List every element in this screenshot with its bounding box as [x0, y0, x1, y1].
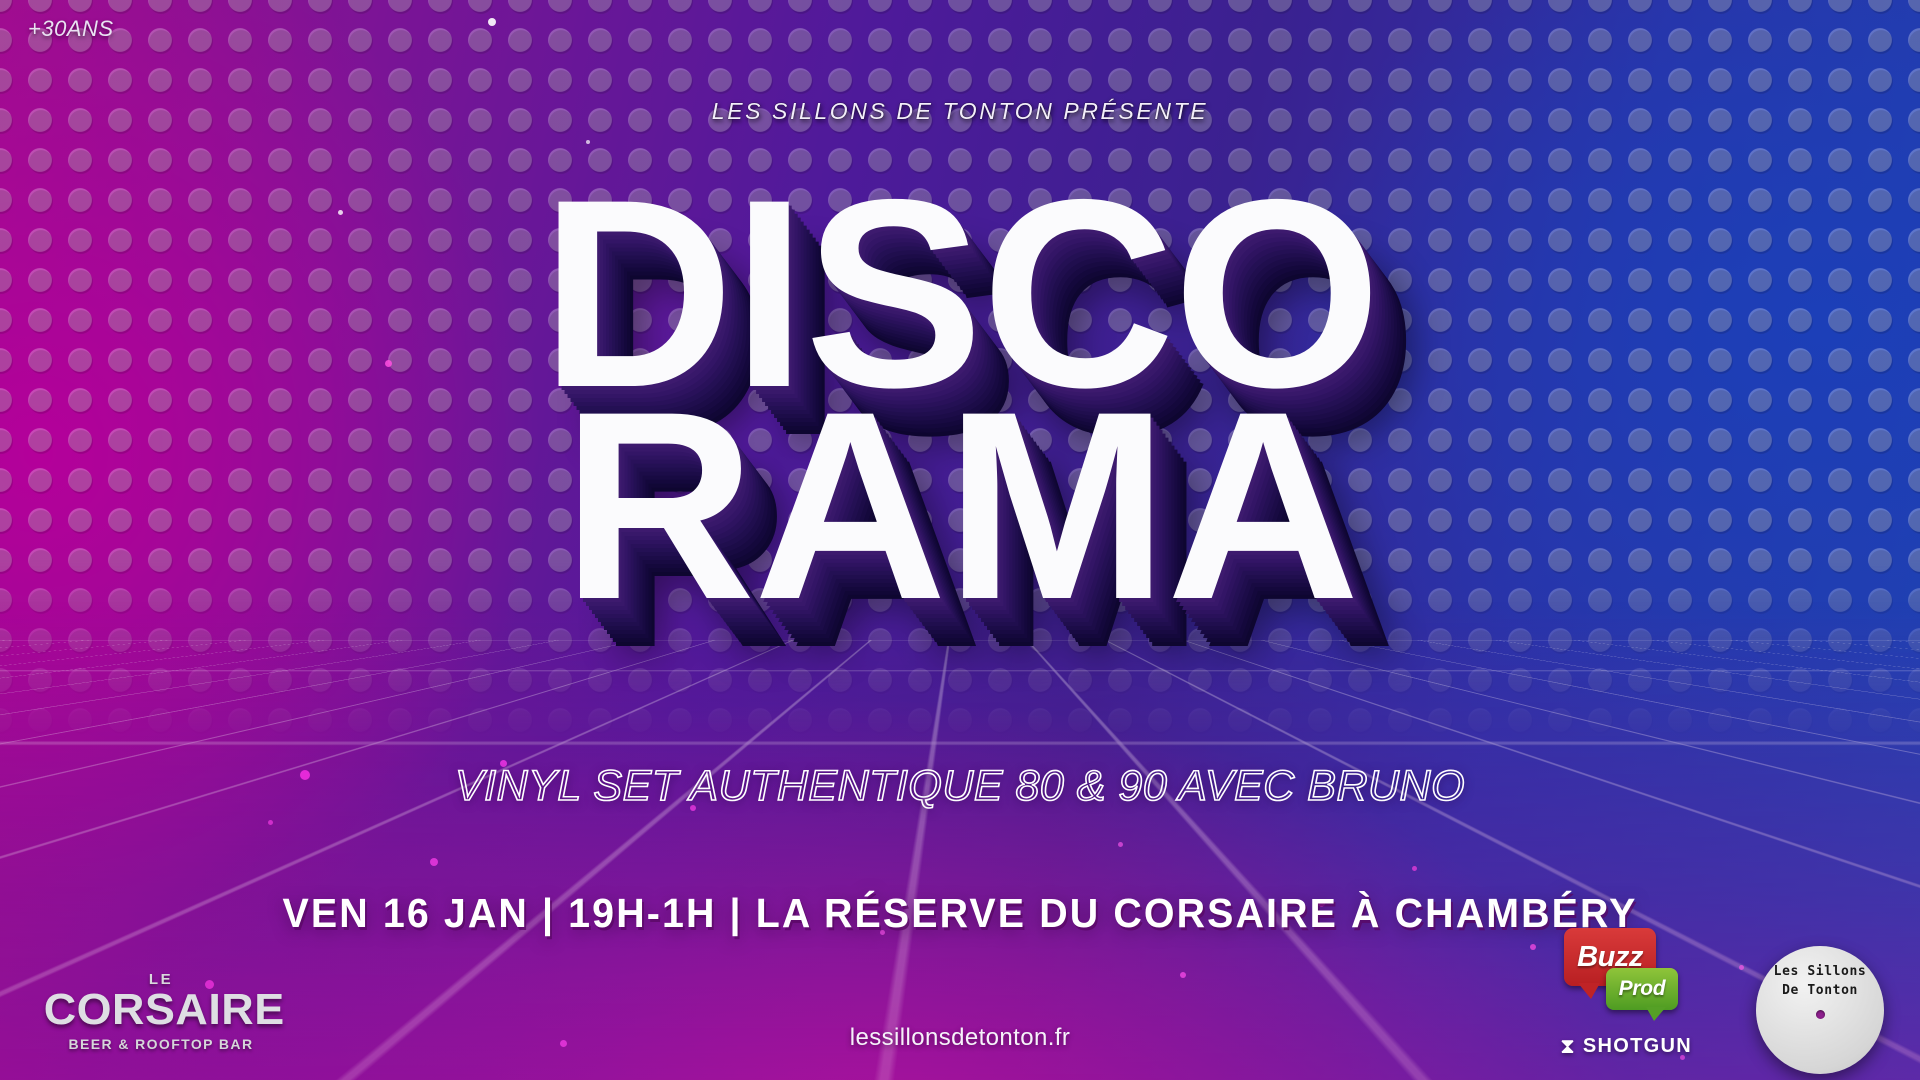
title-line-2: RAMA: [0, 390, 1920, 620]
venue-logo-tagline: BEER & ROOFTOP BAR: [46, 1036, 276, 1052]
age-restriction-label: +30ANS: [28, 16, 114, 42]
shotgun-label: SHOTGUN: [1583, 1035, 1692, 1058]
vinyl-record-logo[interactable]: Les Sillons De Tonton: [1756, 946, 1884, 1074]
text-layer: +30ANS LES SILLONS DE TONTON PRÉSENTE DI…: [0, 0, 1920, 1080]
venue-logo-name: CORSAIRE: [44, 988, 279, 1033]
venue-logo[interactable]: LE CORSAIRE BEER & ROOFTOP BAR: [46, 971, 276, 1052]
vinyl-spindle-hole-icon: [1816, 1010, 1825, 1019]
event-poster: +30ANS LES SILLONS DE TONTON PRÉSENTE DI…: [0, 0, 1920, 1080]
hourglass-icon: ⧗: [1560, 1036, 1575, 1057]
shotgun-ticketing-logo[interactable]: ⧗ SHOTGUN: [1560, 1035, 1692, 1058]
vinyl-label-line-1: Les Sillons: [1774, 963, 1867, 982]
vinyl-label-line-2: De Tonton: [1782, 982, 1858, 1001]
buzz-prod-logo[interactable]: Buzz Prod: [1564, 928, 1682, 1024]
prod-word: Prod: [1606, 968, 1678, 1010]
presenter-label: LES SILLONS DE TONTON PRÉSENTE: [0, 98, 1920, 125]
poster-subtitle: VINYL SET AUTHENTIQUE 80 & 90 AVEC BRUNO: [0, 762, 1920, 811]
prod-speech-bubble-icon: Prod: [1606, 968, 1678, 1010]
poster-title: DISCO RAMA: [0, 178, 1920, 621]
